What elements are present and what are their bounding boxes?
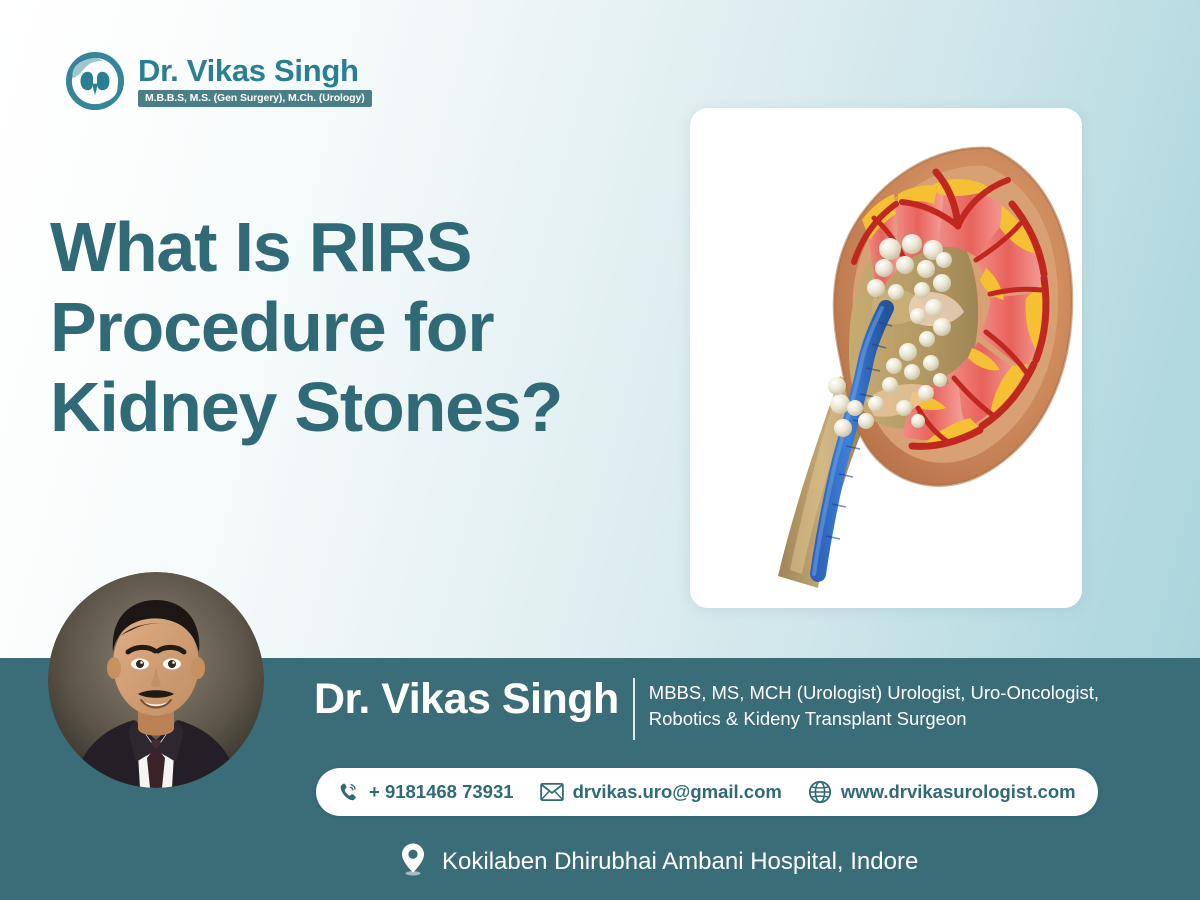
page-title: What Is RIRS Procedure for Kidney Stones…: [50, 208, 680, 447]
website-url: www.drvikasurologist.com: [841, 781, 1076, 803]
email-icon: [540, 782, 564, 802]
globe-icon: [808, 780, 832, 804]
phone-icon: [338, 781, 360, 803]
doctor-identity: Dr. Vikas Singh MBBS, MS, MCH (Urologist…: [314, 676, 1119, 740]
headline-line-2: Procedure for: [50, 288, 680, 368]
promo-banner: Dr. Vikas Singh M.B.B.S, M.S. (Gen Surge…: [0, 0, 1200, 900]
contact-website[interactable]: www.drvikasurologist.com: [808, 780, 1076, 804]
email-address: drvikas.uro@gmail.com: [573, 781, 782, 803]
brand-credentials-badge: M.B.B.S, M.S. (Gen Surgery), M.Ch. (Urol…: [138, 90, 372, 108]
contact-bar: + 9181468 73931 drvikas.uro@gmail.com: [316, 768, 1098, 816]
headline-line-1: What Is RIRS: [50, 208, 680, 288]
vertical-divider: [633, 678, 635, 740]
illustration-card: [690, 108, 1082, 608]
brand-logo[interactable]: Dr. Vikas Singh M.B.B.S, M.S. (Gen Surge…: [62, 48, 372, 114]
doctor-credentials: MBBS, MS, MCH (Urologist) Urologist, Uro…: [649, 676, 1119, 733]
doctor-portrait-icon: [48, 572, 264, 788]
contact-phone[interactable]: + 9181468 73931: [338, 781, 514, 803]
kidney-cross-section-with-stones-and-ureteroscope-icon: [690, 108, 1082, 608]
kidney-hands-circle-logo-icon: [62, 48, 128, 114]
contact-email[interactable]: drvikas.uro@gmail.com: [540, 781, 782, 803]
doctor-name: Dr. Vikas Singh: [314, 676, 619, 722]
address-bar[interactable]: Kokilaben Dhirubhai Ambani Hospital, Ind…: [400, 842, 918, 881]
address-text: Kokilaben Dhirubhai Ambani Hospital, Ind…: [442, 848, 918, 876]
phone-number: + 9181468 73931: [369, 781, 514, 803]
avatar: [48, 572, 264, 788]
location-pin-icon: [400, 842, 426, 881]
brand-name: Dr. Vikas Singh: [138, 55, 372, 86]
headline-line-3: Kidney Stones?: [50, 368, 680, 448]
